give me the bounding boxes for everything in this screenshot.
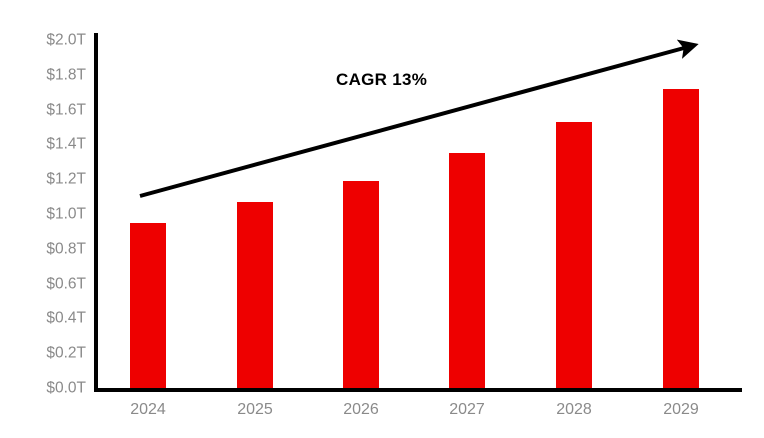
y-tick-label: $0.6T	[0, 276, 86, 292]
y-tick-label: $0.4T	[0, 311, 86, 327]
cagr-annotation-label: CAGR 13%	[336, 70, 427, 90]
bar-2024[interactable]	[130, 223, 166, 388]
y-tick-label: $1.2T	[0, 171, 86, 187]
bar-2028[interactable]	[556, 122, 592, 388]
x-tick-label-2024: 2024	[88, 402, 208, 418]
y-tick-label: $0.8T	[0, 241, 86, 257]
x-tick-label-2026: 2026	[301, 402, 421, 418]
y-tick-label: $0.2T	[0, 345, 86, 361]
y-tick-label: $1.8T	[0, 67, 86, 83]
x-tick-label-2028: 2028	[514, 402, 634, 418]
y-tick-label: $1.6T	[0, 102, 86, 118]
x-tick-label-2027: 2027	[407, 402, 527, 418]
bar-2025[interactable]	[237, 202, 273, 388]
plot-area	[94, 40, 740, 388]
bar-2027[interactable]	[449, 153, 485, 388]
y-tick-label: $1.0T	[0, 206, 86, 222]
y-tick-label: $1.4T	[0, 137, 86, 153]
y-axis-tick-labels: $2.0T $1.8T $1.6T $1.4T $1.2T $1.0T $0.8…	[0, 0, 86, 438]
x-axis-line	[94, 388, 742, 392]
y-tick-label: $2.0T	[0, 32, 86, 48]
bar-chart: $2.0T $1.8T $1.6T $1.4T $1.2T $1.0T $0.8…	[0, 0, 764, 438]
bar-2026[interactable]	[343, 181, 379, 388]
x-tick-label-2025: 2025	[195, 402, 315, 418]
x-tick-label-2029: 2029	[621, 402, 741, 418]
bar-2029[interactable]	[663, 89, 699, 388]
y-tick-label: $0.0T	[0, 380, 86, 396]
